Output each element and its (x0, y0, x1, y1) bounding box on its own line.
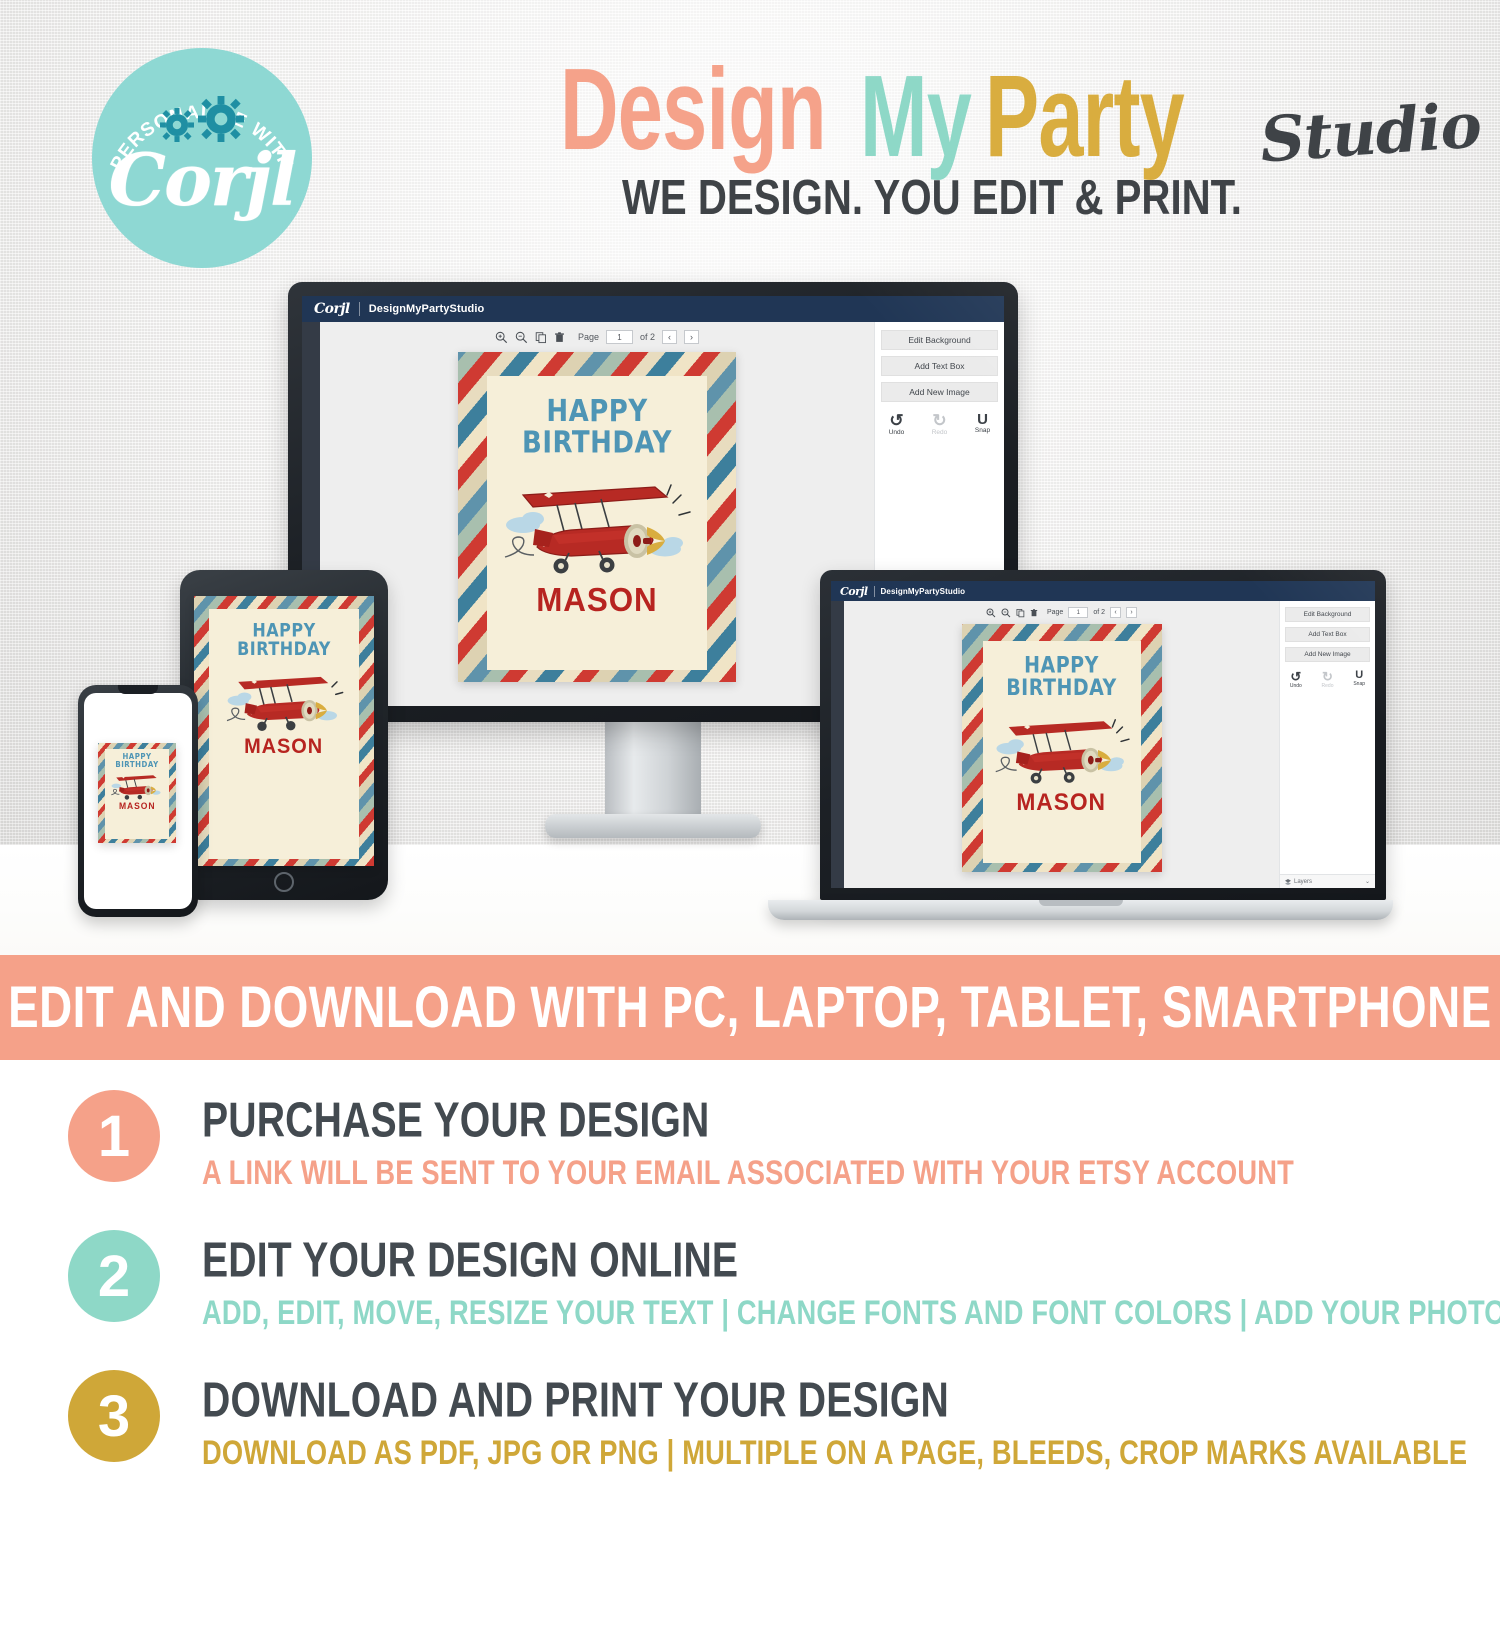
brand-header: Design My Party Studio WE DESIGN. YOU ED… (560, 58, 1430, 238)
laptop-page-total: of 2 (1093, 609, 1105, 616)
step-item-2: 2 EDIT YOUR DESIGN ONLINE ADD, EDIT, MOV… (0, 1218, 1500, 1358)
brand-word-my: My (860, 51, 971, 184)
corjl-logo[interactable]: Corjl (314, 301, 350, 317)
edit-background-button[interactable]: Edit Background (881, 330, 997, 350)
zoom-in-icon[interactable] (495, 331, 508, 344)
redo-icon: ↻ (918, 412, 961, 429)
laptop-next-page-button[interactable]: › (1126, 607, 1137, 618)
add-new-image-button[interactable]: Add New Image (881, 382, 997, 402)
step-2-subtitle: ADD, EDIT, MOVE, RESIZE YOUR TEXT | CHAN… (202, 1293, 1500, 1333)
laptop-editor-toolbar: Page 1 of 2 ‹ › (986, 601, 1137, 624)
laptop-add-text-box-button[interactable]: Add Text Box (1285, 627, 1371, 642)
laptop-card-greeting: HAPPY BIRTHDAY (1006, 655, 1117, 701)
laptop-card-greeting-line1: HAPPY (1006, 655, 1117, 678)
tablet-card-inner-paper: HAPPY BIRTHDAY (209, 609, 359, 859)
biplane-icon (497, 465, 697, 575)
brand-wordmark-party: Party (985, 58, 1240, 158)
laptop-snap-icon: U (1343, 670, 1375, 681)
gear-icon-large (198, 96, 244, 142)
compatibility-banner: EDIT AND DOWNLOAD WITH PC, LAPTOP, TABLE… (0, 955, 1500, 1060)
laptop-biplane-illustration (990, 705, 1134, 785)
card-greeting-line2: BIRTHDAY (522, 427, 672, 458)
page-number-input[interactable]: 1 (606, 330, 633, 344)
snap-label: Snap (961, 427, 1004, 434)
phone-notch (118, 685, 158, 694)
step-item-1: 1 PURCHASE YOUR DESIGN A LINK WILL BE SE… (0, 1078, 1500, 1218)
duplicate-icon[interactable] (535, 331, 547, 344)
card-name-text[interactable]: MASON (536, 581, 657, 619)
layers-chevron-icon: ⌄ (1365, 878, 1370, 885)
layers-label: Layers (1294, 879, 1312, 885)
compatibility-banner-text: EDIT AND DOWNLOAD WITH PC, LAPTOP, TABLE… (8, 974, 1491, 1041)
undo-label: Undo (875, 429, 918, 436)
step-2-text: EDIT YOUR DESIGN ONLINE ADD, EDIT, MOVE,… (160, 1218, 1500, 1331)
layers-panel-toggle[interactable]: Layers ⌄ (1280, 874, 1375, 888)
step-1-number-badge: 1 (68, 1090, 160, 1182)
laptop-editor-left-rail[interactable] (831, 601, 844, 888)
zoom-out-icon[interactable] (515, 331, 528, 344)
smartphone-mockup: HAPPY BIRTHDAY (78, 685, 198, 917)
laptop-snap-button[interactable]: U Snap (1343, 670, 1375, 687)
card-artwork-phone[interactable]: HAPPY BIRTHDAY (98, 743, 176, 843)
laptop-card-name-text[interactable]: MASON (1017, 789, 1107, 817)
laptop-trash-icon[interactable] (1030, 608, 1038, 618)
phone-screen[interactable]: HAPPY BIRTHDAY (84, 693, 192, 909)
laptop-redo-label: Redo (1312, 683, 1344, 689)
laptop-editor-canvas-area: Page 1 of 2 ‹ › HAPPY BIRTHDAY (844, 601, 1279, 888)
editor-toolbar: Page 1 of 2 ‹ › (495, 322, 699, 352)
phone-card-greeting: HAPPY BIRTHDAY (115, 753, 158, 770)
step-1-subtitle: A LINK WILL BE SENT TO YOUR EMAIL ASSOCI… (202, 1153, 1294, 1193)
laptop-trackpad-notch (1039, 900, 1123, 906)
laptop-editor-screen[interactable]: Corjl DesignMyPartyStudio (831, 581, 1375, 888)
tablet-card-greeting-line2: BIRTHDAY (237, 640, 331, 659)
laptop-editor-navbar: Corjl DesignMyPartyStudio (831, 581, 1375, 601)
laptop-base-deck (768, 900, 1393, 920)
laptop-editor-history-controls: ↺ Undo ↻ Redo U Snap (1280, 670, 1375, 689)
laptop-zoom-in-icon[interactable] (986, 608, 996, 618)
laptop-undo-label: Undo (1280, 683, 1312, 689)
step-1-title: PURCHASE YOUR DESIGN (202, 1094, 1282, 1146)
steps-section: 1 PURCHASE YOUR DESIGN A LINK WILL BE SE… (0, 1078, 1500, 1498)
corjl-personalize-badge[interactable]: PERSONALIZE WITH (92, 48, 312, 268)
editor-history-controls: ↺ Undo ↻ Redo U Snap (875, 412, 1004, 436)
redo-button[interactable]: ↻ Redo (918, 412, 961, 436)
laptop-add-new-image-button[interactable]: Add New Image (1285, 647, 1371, 662)
brand-word-design: Design (560, 52, 826, 168)
phone-body: HAPPY BIRTHDAY (78, 685, 198, 917)
laptop-redo-icon: ↻ (1312, 670, 1344, 683)
step-2-title: EDIT YOUR DESIGN ONLINE (202, 1234, 1500, 1286)
laptop-edit-background-button[interactable]: Edit Background (1285, 607, 1371, 622)
phone-card-name-text[interactable]: MASON (119, 801, 156, 811)
undo-button[interactable]: ↺ Undo (875, 412, 918, 436)
badge-gears (92, 96, 312, 142)
brand-wordmark-my: My (860, 58, 1002, 158)
biplane-illustration (497, 465, 697, 575)
tablet-home-button[interactable] (274, 872, 294, 892)
snap-icon: U (961, 412, 1004, 427)
step-3-number-badge: 3 (68, 1370, 160, 1462)
laptop-redo-button[interactable]: ↻ Redo (1312, 670, 1344, 689)
laptop-duplicate-icon[interactable] (1016, 608, 1025, 618)
brand-word-party: Party (985, 51, 1184, 184)
step-2-number-badge: 2 (68, 1230, 160, 1322)
editor-app-title: DesignMyPartyStudio (369, 303, 485, 315)
card-artwork-desktop[interactable]: HAPPY BIRTHDAY (458, 352, 736, 682)
page-total: of 2 (640, 332, 655, 342)
trash-icon[interactable] (554, 331, 565, 344)
step-1-text: PURCHASE YOUR DESIGN A LINK WILL BE SENT… (160, 1078, 1443, 1191)
card-inner-paper: HAPPY BIRTHDAY (487, 376, 707, 670)
page-label: Page (578, 332, 599, 342)
laptop-undo-button[interactable]: ↺ Undo (1280, 670, 1312, 689)
tablet-body: HAPPY BIRTHDAY (180, 570, 388, 900)
tablet-biplane-illustration (222, 663, 347, 732)
phone-biplane-icon (109, 769, 165, 800)
laptop-biplane-icon (990, 705, 1134, 785)
laptop-editor-right-panel: Edit Background Add Text Box Add New Ima… (1279, 601, 1375, 888)
brand-word-studio: Studio (1258, 88, 1483, 176)
step-3-subtitle: DOWNLOAD AS PDF, JPG OR PNG | MULTIPLE O… (202, 1433, 1467, 1473)
laptop-lid: Corjl DesignMyPartyStudio (820, 570, 1386, 900)
laptop-prev-page-button[interactable]: ‹ (1110, 607, 1121, 618)
laptop-editor-app-title: DesignMyPartyStudio (881, 587, 966, 596)
tablet-card-name-text[interactable]: MASON (244, 735, 323, 759)
card-artwork-tablet[interactable]: HAPPY BIRTHDAY (194, 596, 374, 866)
navbar-divider (359, 302, 360, 316)
laptop-zoom-out-icon[interactable] (1001, 608, 1011, 618)
redo-label: Redo (918, 429, 961, 436)
phone-biplane-illustration (109, 769, 165, 800)
card-greeting-line1: HAPPY (522, 396, 672, 427)
laptop-page-label: Page (1047, 609, 1063, 616)
card-artwork-laptop[interactable]: HAPPY BIRTHDAY (962, 624, 1162, 872)
laptop-corjl-logo[interactable]: Corjl (840, 585, 868, 598)
next-page-button[interactable]: › (684, 330, 699, 344)
phone-card-inner-paper: HAPPY BIRTHDAY (105, 749, 169, 839)
step-3-title: DOWNLOAD AND PRINT YOUR DESIGN (202, 1374, 1453, 1426)
layers-icon (1285, 879, 1291, 885)
editor-navbar: Corjl DesignMyPartyStudio (302, 296, 1004, 322)
snap-button[interactable]: U Snap (961, 412, 1004, 434)
tablet-card-greeting: HAPPY BIRTHDAY (237, 621, 331, 659)
laptop-snap-label: Snap (1343, 681, 1375, 687)
card-greeting: HAPPY BIRTHDAY (522, 396, 672, 459)
monitor-stand-base (545, 814, 761, 838)
laptop-card-greeting-line2: BIRTHDAY (1006, 678, 1117, 701)
tablet-biplane-icon (222, 663, 347, 732)
laptop-card-inner-paper: HAPPY BIRTHDAY (983, 641, 1141, 863)
add-text-box-button[interactable]: Add Text Box (881, 356, 997, 376)
laptop-page-number-input[interactable]: 1 (1068, 607, 1088, 618)
brand-tagline: WE DESIGN. YOU EDIT & PRINT. (622, 170, 1242, 226)
tablet-mockup: HAPPY BIRTHDAY (180, 570, 388, 900)
step-3-text: DOWNLOAD AND PRINT YOUR DESIGN DOWNLOAD … (160, 1358, 1500, 1471)
prev-page-button[interactable]: ‹ (662, 330, 677, 344)
step-item-3: 3 DOWNLOAD AND PRINT YOUR DESIGN DOWNLOA… (0, 1358, 1500, 1498)
badge-brand-script: Corjl (92, 144, 312, 216)
undo-icon: ↺ (875, 412, 918, 429)
monitor-stand-neck (605, 722, 701, 814)
laptop-editor-body: Page 1 of 2 ‹ › HAPPY BIRTHDAY (831, 601, 1375, 888)
laptop-undo-icon: ↺ (1280, 670, 1312, 683)
laptop-mockup: Corjl DesignMyPartyStudio (768, 570, 1393, 920)
laptop-navbar-divider (874, 586, 875, 597)
